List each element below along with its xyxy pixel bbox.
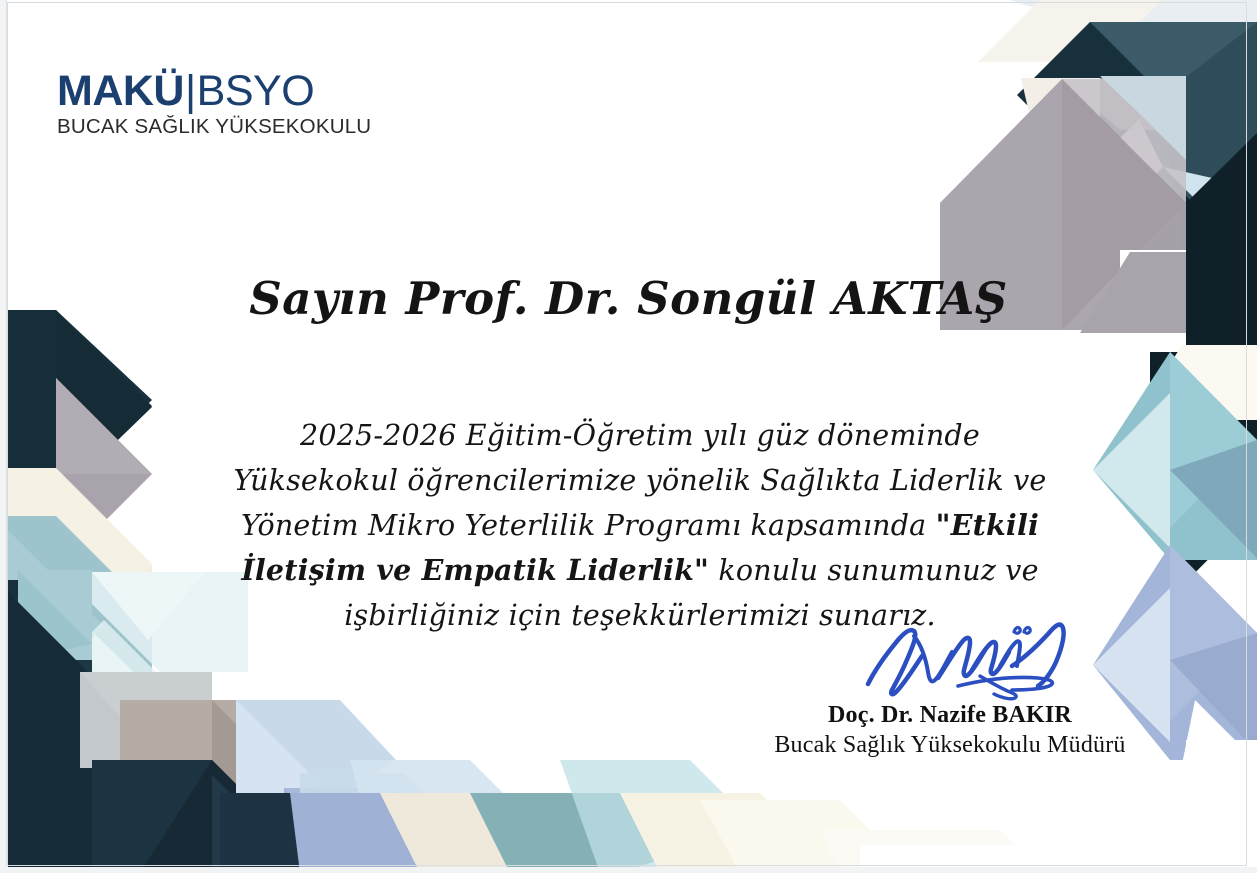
logo-wordmark: MAKÜ|BSYO bbox=[57, 70, 387, 113]
logo-bsyo: BSYO bbox=[197, 67, 315, 115]
signer-block: Doç. Dr. Nazife BAKIR Bucak Sağlık Yükse… bbox=[690, 700, 1210, 760]
scan-edge-bottom bbox=[0, 867, 1257, 873]
recipient-name: Sayın Prof. Dr. Songül AKTAŞ bbox=[0, 272, 1257, 325]
certificate-content: MAKÜ|BSYO BUCAK SAĞLIK YÜKSEKOKULU Sayın… bbox=[0, 0, 1257, 873]
certificate-page: MAKÜ|BSYO BUCAK SAĞLIK YÜKSEKOKULU Sayın… bbox=[0, 0, 1257, 873]
logo-subtitle: BUCAK SAĞLIK YÜKSEKOKULU bbox=[57, 115, 387, 139]
body-part-1: 2025-2026 Eğitim-Öğretim yılı güz dönemi… bbox=[234, 419, 1047, 542]
logo-maku: MAKÜ bbox=[57, 67, 184, 115]
signer-title: Bucak Sağlık Yüksekokulu Müdürü bbox=[690, 730, 1210, 760]
logo-divider: | bbox=[184, 67, 197, 115]
certificate-body: 2025-2026 Eğitim-Öğretim yılı güz dönemi… bbox=[215, 413, 1065, 638]
scan-edge-left bbox=[0, 0, 7, 873]
institution-logo: MAKÜ|BSYO BUCAK SAĞLIK YÜKSEKOKULU bbox=[57, 70, 387, 139]
signer-name: Doç. Dr. Nazife BAKIR bbox=[690, 700, 1210, 730]
handwritten-signature bbox=[862, 612, 1082, 704]
